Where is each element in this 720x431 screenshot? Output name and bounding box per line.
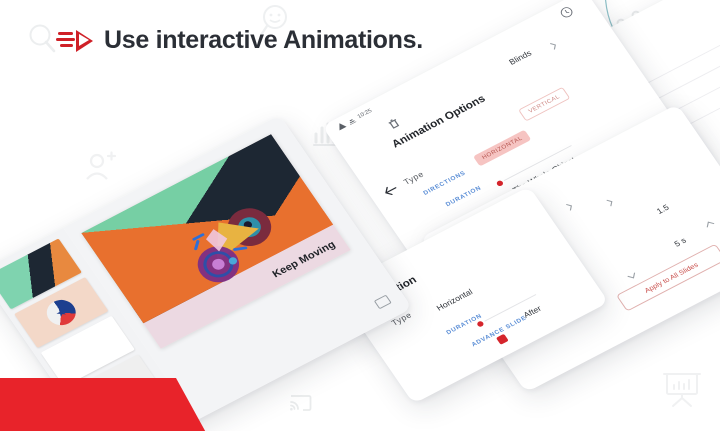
- directions-label: DIRECTIONS: [422, 170, 467, 197]
- page-header: Use interactive Animations.: [0, 0, 720, 84]
- chip-horizontal[interactable]: HORIZONTAL: [473, 129, 532, 166]
- status-time: 10:25: [356, 108, 373, 120]
- duration-slider-handle[interactable]: [496, 180, 505, 187]
- advance-check-icon[interactable]: [496, 334, 509, 345]
- animation-options-title: Animation Options: [390, 93, 488, 150]
- transition-type-value[interactable]: Horizontal: [435, 287, 475, 313]
- back-arrow-icon[interactable]: [381, 181, 402, 201]
- play-triangle-inner: [79, 34, 89, 46]
- fast-forward-play-logo: [30, 22, 98, 62]
- chevron-up-icon[interactable]: [700, 214, 718, 232]
- screenshot-root: Change Animation BREEZE Appear Blinds Dr…: [0, 0, 720, 431]
- duration-value[interactable]: 1.5: [655, 203, 671, 216]
- duration-slider-handle[interactable]: [476, 320, 485, 327]
- after-value[interactable]: 5 s: [672, 236, 687, 249]
- page-title: Use interactive Animations.: [104, 26, 423, 55]
- status-bar: 10:25: [336, 108, 373, 131]
- advance-slide-value[interactable]: After: [522, 304, 543, 320]
- signal-icon: [346, 116, 356, 125]
- present-icon[interactable]: [373, 293, 395, 313]
- chevron-down-icon[interactable]: [623, 267, 641, 285]
- chip-vertical[interactable]: VERTICAL: [518, 87, 570, 122]
- motion-lines-icon: [56, 32, 75, 50]
- chevron-right-icon[interactable]: [604, 195, 618, 211]
- type-label: Type: [402, 169, 426, 186]
- duration-label: DURATION: [445, 185, 483, 208]
- chevron-right-icon[interactable]: [563, 199, 577, 215]
- wifi-icon: [336, 121, 347, 130]
- trash-icon[interactable]: [385, 116, 403, 135]
